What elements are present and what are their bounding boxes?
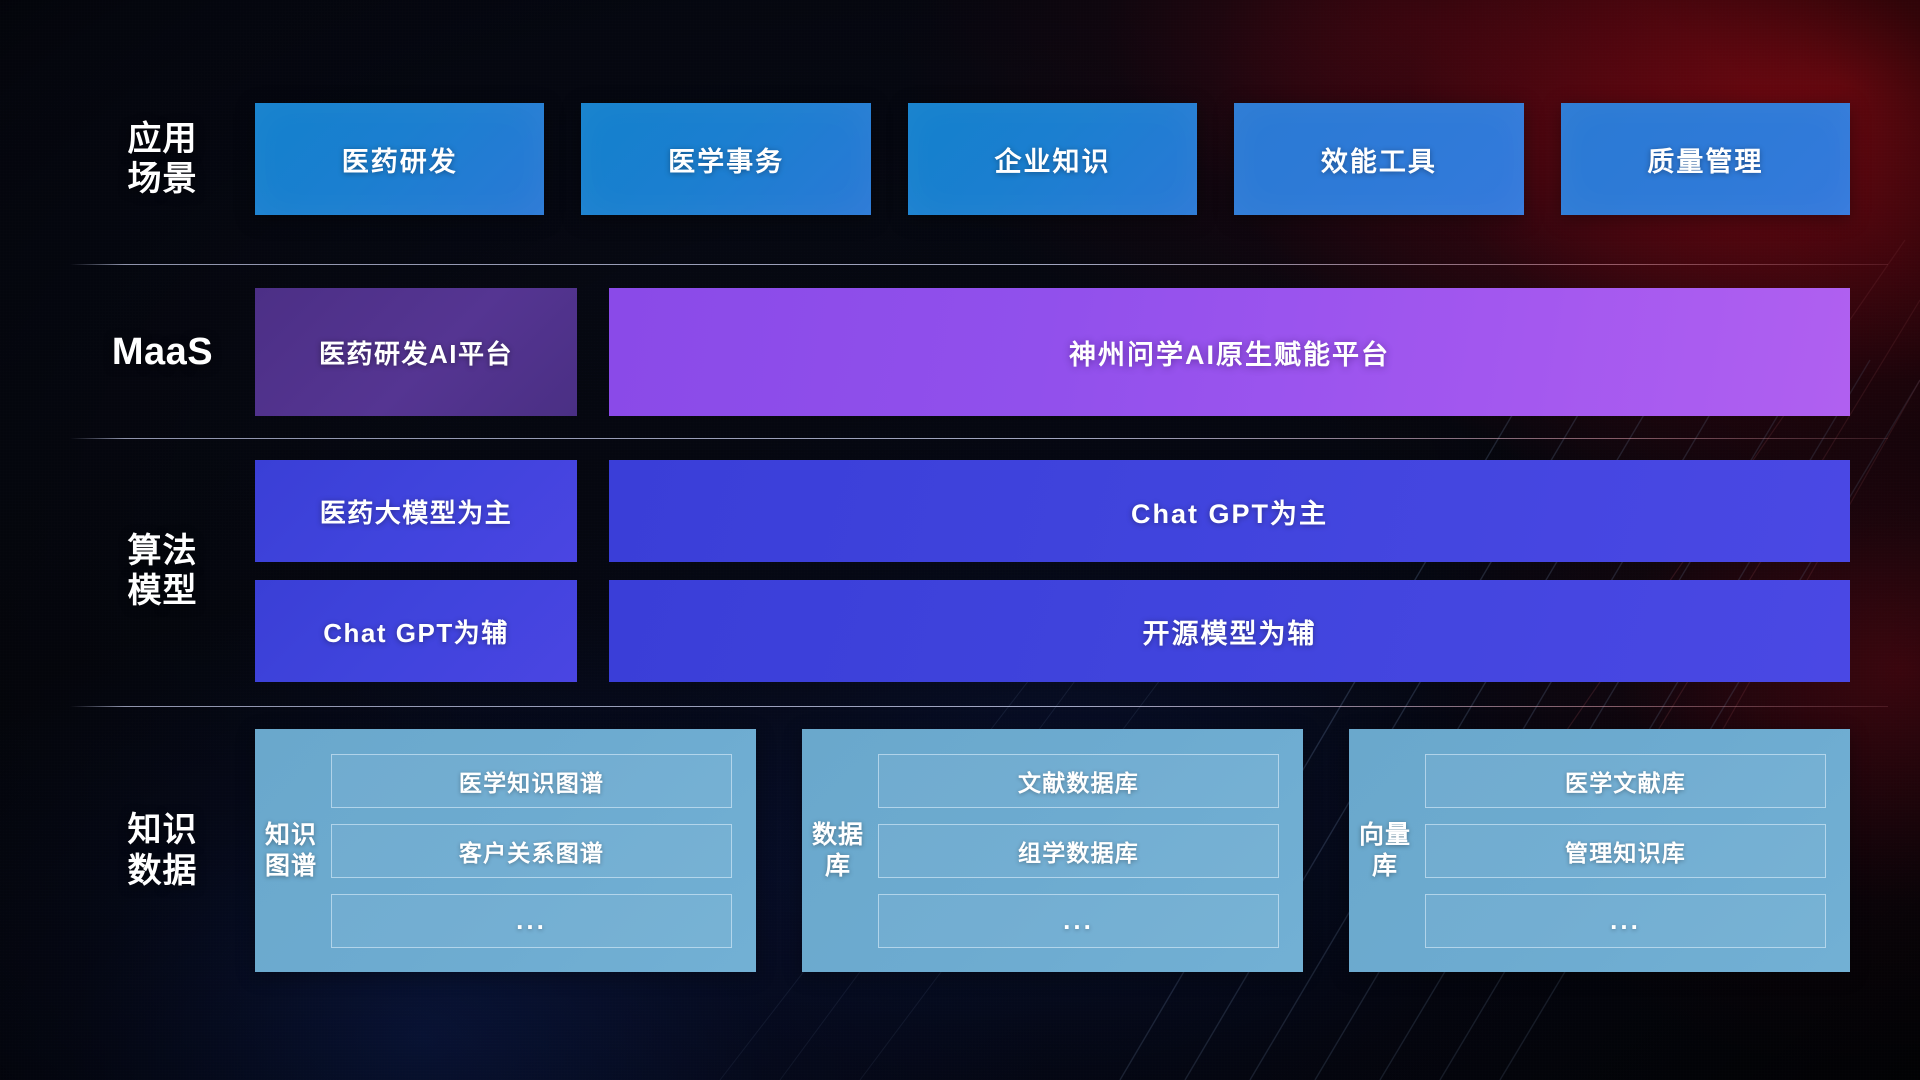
knowledge-group-title: 知识图谱 <box>255 729 327 972</box>
layer-label-applications-line1: 应用 <box>70 119 255 159</box>
application-card[interactable]: 医药研发 <box>255 103 544 215</box>
knowledge-item[interactable]: 管理知识库 <box>1425 824 1826 878</box>
layer-label-applications-line2: 场景 <box>70 159 255 199</box>
knowledge-item-more[interactable]: ... <box>1425 894 1826 948</box>
knowledge-group-graph: 知识图谱 医学知识图谱 客户关系图谱 ... <box>255 729 756 972</box>
maas-card-native-platform[interactable]: 神州问学AI原生赋能平台 <box>609 288 1850 416</box>
algorithm-card-secondary-right[interactable]: 开源模型为辅 <box>609 580 1850 682</box>
layer-label-knowledge: 知识 数据 <box>70 810 255 890</box>
knowledge-item[interactable]: 医学文献库 <box>1425 754 1826 808</box>
layer-label-algorithm-line2: 模型 <box>70 571 255 611</box>
knowledge-item-list: 文献数据库 组学数据库 ... <box>874 729 1303 972</box>
application-card[interactable]: 医学事务 <box>581 103 870 215</box>
layer-label-applications: 应用 场景 <box>70 119 255 199</box>
layer-label-knowledge-line1: 知识 <box>70 810 255 850</box>
knowledge-group-track: 知识图谱 医学知识图谱 客户关系图谱 ... 数据库 文献数据库 组学数据库 .… <box>255 729 1850 972</box>
knowledge-item[interactable]: 文献数据库 <box>878 754 1279 808</box>
knowledge-item-more[interactable]: ... <box>331 894 732 948</box>
algorithm-row-primary: 医药大模型为主 Chat GPT为主 <box>255 460 1850 562</box>
algorithm-card-stack: 医药大模型为主 Chat GPT为主 Chat GPT为辅 开源模型为辅 <box>255 460 1850 682</box>
application-card[interactable]: 质量管理 <box>1561 103 1850 215</box>
layer-maas: MaaS 医药研发AI平台 神州问学AI原生赋能平台 <box>70 288 1850 416</box>
layer-algorithm-model: 算法 模型 医药大模型为主 Chat GPT为主 Chat GPT为辅 开源模型… <box>70 460 1850 682</box>
maas-card-track: 医药研发AI平台 神州问学AI原生赋能平台 <box>255 288 1850 416</box>
knowledge-item[interactable]: 组学数据库 <box>878 824 1279 878</box>
knowledge-item-list: 医学知识图谱 客户关系图谱 ... <box>327 729 756 972</box>
knowledge-item[interactable]: 医学知识图谱 <box>331 754 732 808</box>
algorithm-row-secondary: Chat GPT为辅 开源模型为辅 <box>255 580 1850 682</box>
layer-label-knowledge-line2: 数据 <box>70 851 255 891</box>
algorithm-card-secondary-left[interactable]: Chat GPT为辅 <box>255 580 577 682</box>
section-divider <box>70 264 1888 265</box>
section-divider <box>70 706 1888 707</box>
knowledge-item[interactable]: 客户关系图谱 <box>331 824 732 878</box>
knowledge-group-vector: 向量库 医学文献库 管理知识库 ... <box>1349 729 1850 972</box>
architecture-diagram: 应用 场景 医药研发 医学事务 企业知识 效能工具 质量管理 MaaS 医药研发… <box>0 0 1920 1080</box>
knowledge-group-title: 向量库 <box>1349 729 1421 972</box>
section-divider <box>70 438 1888 439</box>
knowledge-item-list: 医学文献库 管理知识库 ... <box>1421 729 1850 972</box>
application-card[interactable]: 企业知识 <box>908 103 1197 215</box>
layer-label-maas: MaaS <box>70 330 255 375</box>
layer-label-algorithm-line1: 算法 <box>70 531 255 571</box>
maas-card-pharma-platform[interactable]: 医药研发AI平台 <box>255 288 577 416</box>
layer-applications: 应用 场景 医药研发 医学事务 企业知识 效能工具 质量管理 <box>70 100 1850 218</box>
application-card-track: 医药研发 医学事务 企业知识 效能工具 质量管理 <box>255 103 1850 215</box>
algorithm-card-primary-left[interactable]: 医药大模型为主 <box>255 460 577 562</box>
knowledge-group-title: 数据库 <box>802 729 874 972</box>
layer-label-algorithm: 算法 模型 <box>70 531 255 611</box>
layer-knowledge-data: 知识 数据 知识图谱 医学知识图谱 客户关系图谱 ... 数据库 文献数据库 <box>70 728 1850 973</box>
application-card[interactable]: 效能工具 <box>1234 103 1523 215</box>
knowledge-item-more[interactable]: ... <box>878 894 1279 948</box>
slide-canvas: 应用 场景 医药研发 医学事务 企业知识 效能工具 质量管理 MaaS 医药研发… <box>0 0 1920 1080</box>
algorithm-card-primary-right[interactable]: Chat GPT为主 <box>609 460 1850 562</box>
knowledge-group-database: 数据库 文献数据库 组学数据库 ... <box>802 729 1303 972</box>
